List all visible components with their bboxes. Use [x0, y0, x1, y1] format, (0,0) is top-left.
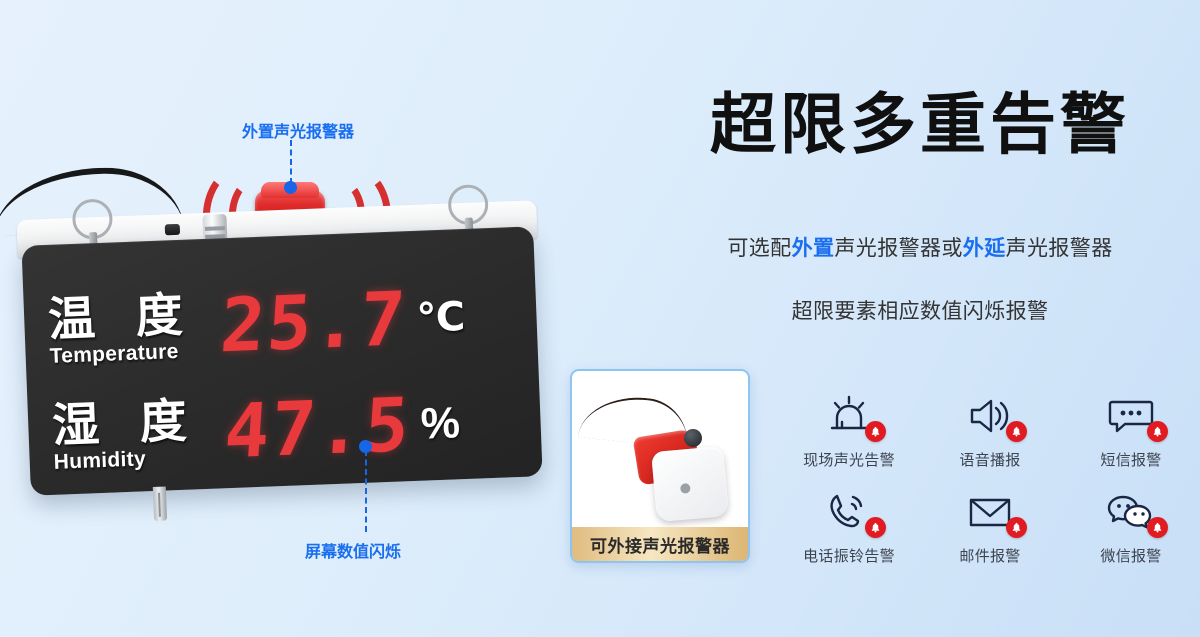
siren-icon: [790, 388, 908, 444]
humidity-label-en: Humidity: [53, 444, 226, 475]
alarm-methods-grid: 现场声光告警 语音播报: [790, 388, 1190, 580]
alarm-methods-row-2: 电话振铃告警 邮件报警: [790, 484, 1190, 566]
humidity-row: 湿 度 Humidity 47.5 %: [27, 366, 543, 494]
alert-bell-badge: [1147, 517, 1168, 538]
temperature-label-cn: 温 度: [47, 290, 221, 344]
callout-top-dot: [284, 181, 297, 194]
alarm-method-label: 邮件报警: [931, 545, 1049, 566]
phone-icon: [790, 484, 908, 540]
temperature-value-group: 25.7 ℃: [219, 277, 538, 363]
wechat-icon: [1072, 484, 1190, 540]
speaker-icon: [931, 388, 1049, 444]
alarm-method-phone[interactable]: 电话振铃告警: [790, 484, 908, 566]
board-body: 温 度 Temperature 25.7 ℃ 湿 度 Humidity 47.5: [16, 200, 547, 520]
right-content: 超限多重告警 可选配外置声光报警器或外延声光报警器 超限要素相应数值闪烁报警: [640, 0, 1200, 637]
humidity-value: 47.5: [222, 388, 413, 469]
alert-bell-badge: [1006, 421, 1027, 442]
alert-bell-badge: [1147, 421, 1168, 442]
callout-top-label: 外置声光报警器: [242, 118, 354, 142]
email-icon: [931, 484, 1049, 540]
alarm-method-label: 语音播报: [931, 449, 1049, 470]
humidity-label-cn: 湿 度: [51, 396, 225, 450]
temperature-value: 25.7: [218, 282, 409, 363]
alarm-method-wechat[interactable]: 微信报警: [1072, 484, 1190, 566]
alert-bell-badge: [865, 421, 886, 442]
subtitle-line-2: 超限要素相应数值闪烁报警: [640, 295, 1200, 325]
humidity-unit: %: [420, 398, 461, 449]
humidity-value-group: 47.5 %: [223, 383, 542, 469]
callout-bottom-label: 屏幕数值闪烁: [305, 538, 401, 562]
temperature-unit: ℃: [416, 294, 466, 342]
sms-icon: [1072, 388, 1190, 444]
subtitle-1-post: 声光报警器: [1006, 236, 1113, 260]
alarm-method-voice[interactable]: 语音播报: [931, 388, 1049, 470]
alarm-method-email[interactable]: 邮件报警: [931, 484, 1049, 566]
subtitle-1-highlight-2: 外延: [963, 236, 1006, 260]
temperature-label-en: Temperature: [49, 338, 222, 369]
display-board-illustration: 温 度 Temperature 25.7 ℃ 湿 度 Humidity 47.5: [0, 150, 580, 570]
subtitle-line-1: 可选配外置声光报警器或外延声光报警器: [640, 232, 1200, 262]
alert-bell-badge: [865, 517, 886, 538]
alert-bell-badge: [1006, 517, 1027, 538]
callout-bottom-dot: [359, 440, 372, 453]
subtitle-1-highlight-1: 外置: [792, 236, 835, 260]
humidity-label: 湿 度 Humidity: [27, 396, 226, 475]
alarm-method-label: 短信报警: [1072, 449, 1190, 470]
alarm-method-siren[interactable]: 现场声光告警: [790, 388, 908, 470]
callout-top-line: [290, 140, 292, 184]
hanging-ring-left: [72, 198, 114, 240]
hanging-ring-right: [447, 184, 489, 226]
led-panel: 温 度 Temperature 25.7 ℃ 湿 度 Humidity 47.5: [21, 226, 542, 495]
temperature-label: 温 度 Temperature: [23, 290, 222, 369]
alarm-method-label: 电话振铃告警: [790, 545, 908, 566]
subtitle-1-pre: 可选配: [727, 236, 791, 260]
page-title: 超限多重告警: [640, 92, 1200, 158]
alarm-method-label: 现场声光告警: [790, 449, 908, 470]
poster-canvas: 温 度 Temperature 25.7 ℃ 湿 度 Humidity 47.5: [0, 0, 1200, 637]
alarm-method-sms[interactable]: 短信报警: [1072, 388, 1190, 470]
board-button[interactable]: [165, 224, 180, 236]
sensor-probe: [153, 487, 167, 521]
subtitle-1-mid: 声光报警器或: [834, 236, 962, 260]
alarm-method-label: 微信报警: [1072, 545, 1190, 566]
alarm-methods-row-1: 现场声光告警 语音播报: [790, 388, 1190, 470]
callout-bottom-line: [365, 450, 367, 532]
